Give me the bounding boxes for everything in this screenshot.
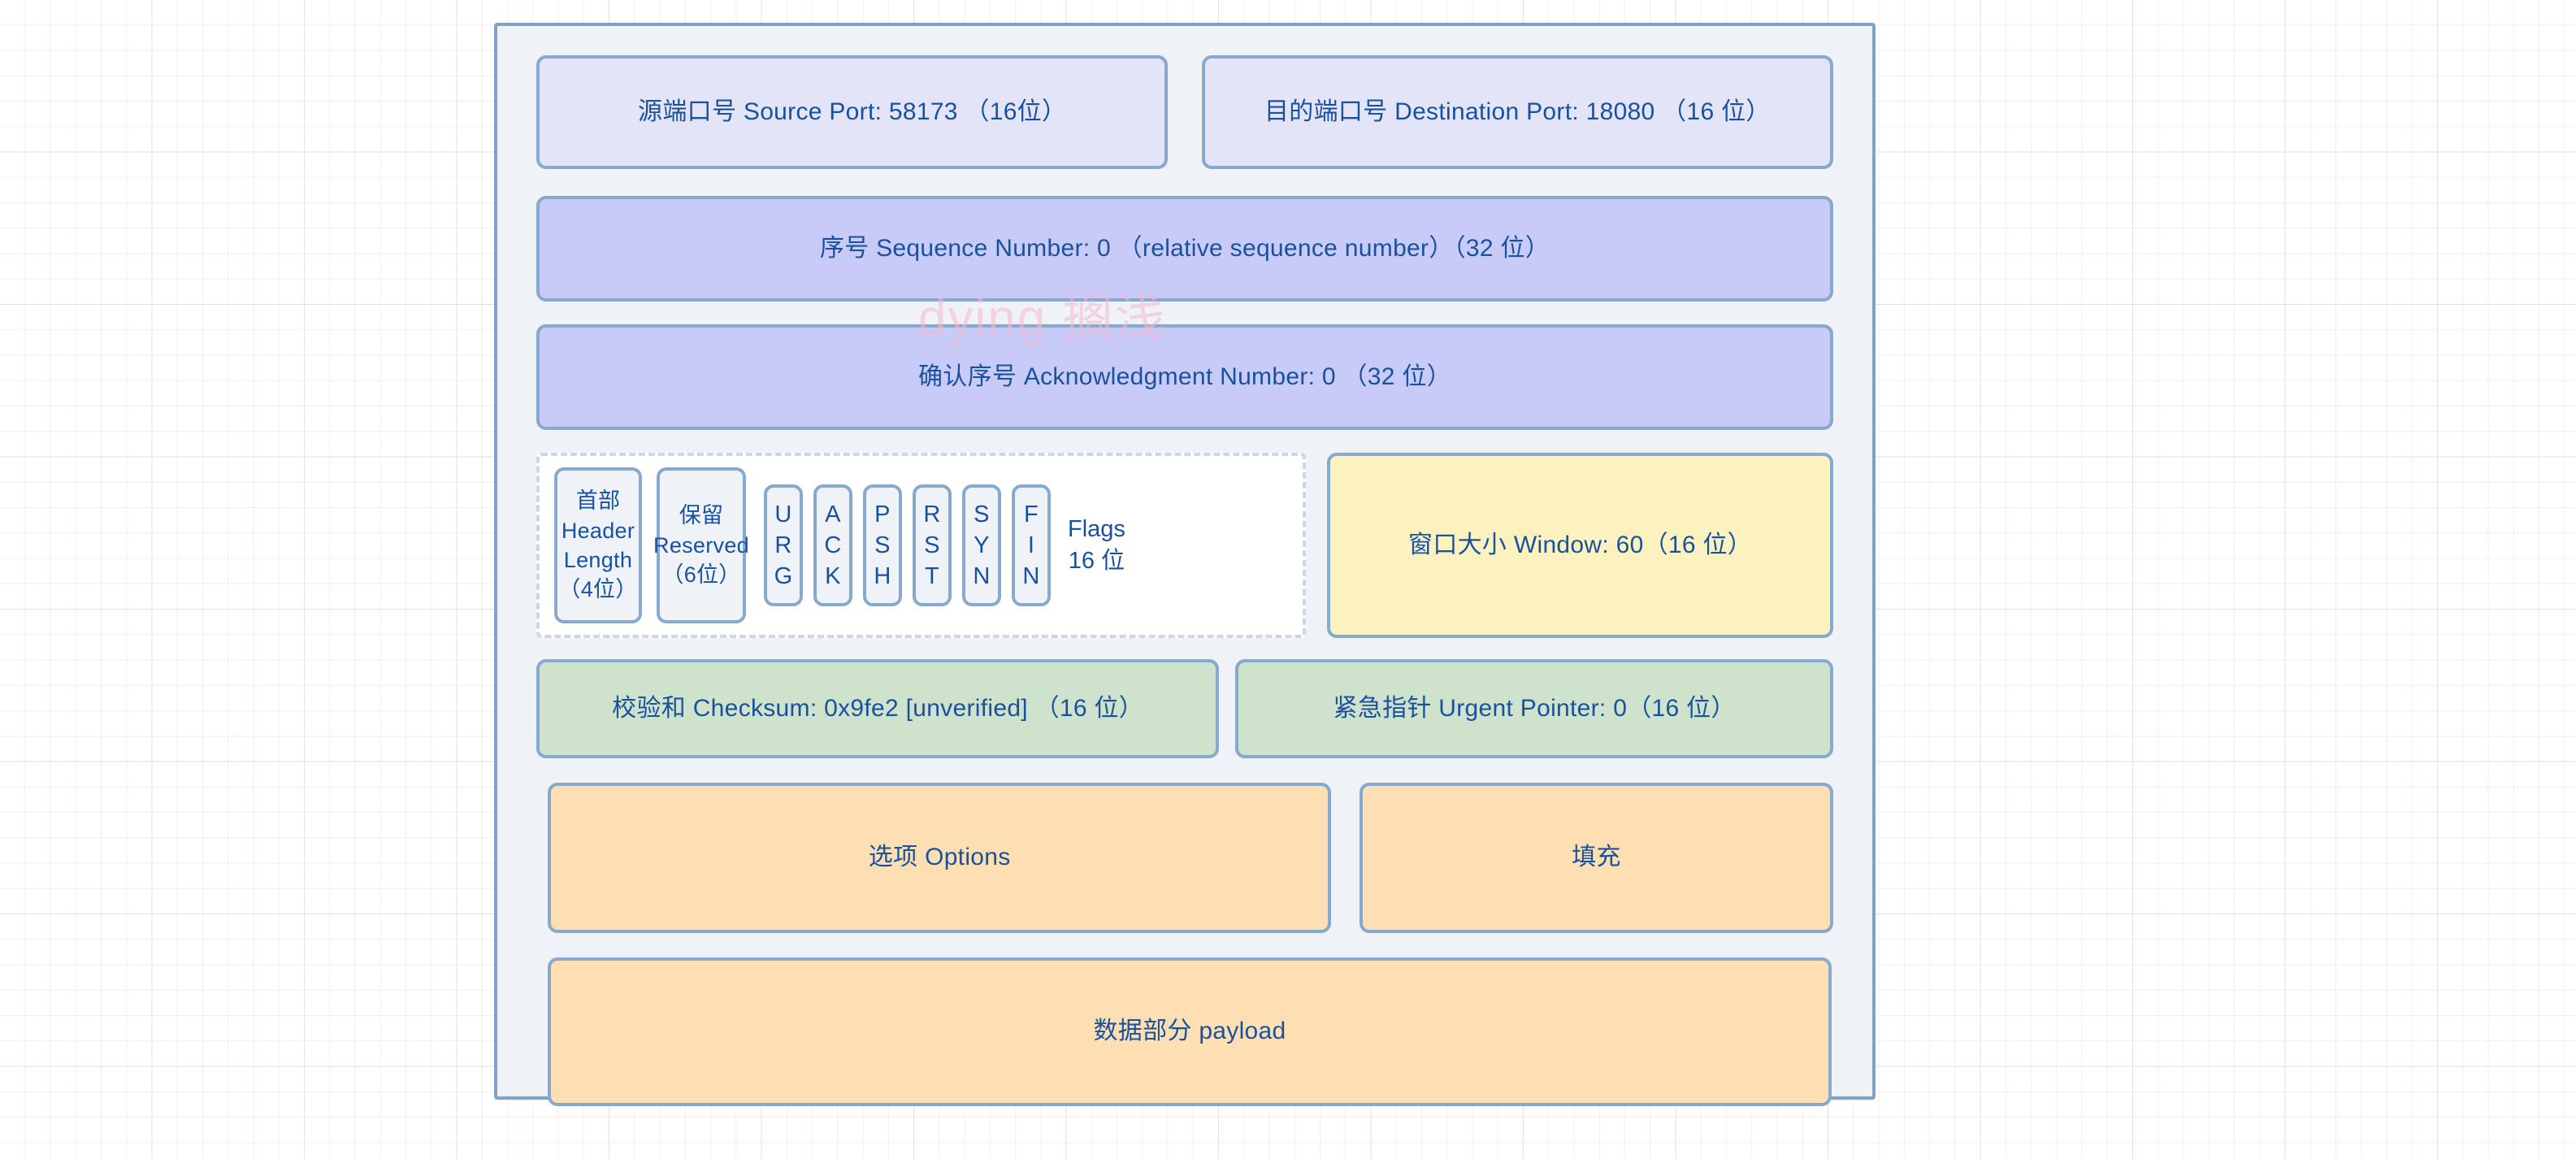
padding-field: 填充 xyxy=(1360,783,1833,933)
flags-group-container: 首部 Header Length （4位） 保留 Reserved （6位） U… xyxy=(536,453,1306,638)
row-gap xyxy=(1219,659,1235,758)
acknowledgment-number-row: 确认序号 Acknowledgment Number: 0 （32 位） xyxy=(536,324,1833,453)
flag-bit-rst: R S T xyxy=(913,484,952,606)
options-field: 选项 Options xyxy=(548,783,1331,933)
flag-bit-ack: A C K xyxy=(813,484,852,606)
ports-row: 源端口号 Source Port: 58173 （16位） 目的端口号 Dest… xyxy=(536,55,1833,169)
window-size-field: 窗口大小 Window: 60（16 位） xyxy=(1327,453,1833,638)
source-port-field: 源端口号 Source Port: 58173 （16位） xyxy=(536,55,1168,169)
reserved-field: 保留 Reserved （6位） xyxy=(657,467,746,623)
tcp-header-rows: 源端口号 Source Port: 58173 （16位） 目的端口号 Dest… xyxy=(536,55,1833,1106)
checksum-urgent-row: 校验和 Checksum: 0x9fe2 [unverified] （16 位）… xyxy=(536,659,1833,758)
tcp-header-diagram-frame: 源端口号 Source Port: 58173 （16位） 目的端口号 Dest… xyxy=(494,23,1876,1100)
flags-label: Flags 16 位 xyxy=(1068,514,1125,577)
options-padding-row: 选项 Options 填充 xyxy=(548,783,1833,933)
flag-bit-psh: P S H xyxy=(863,484,902,606)
payload-row: 数据部分 payload xyxy=(548,957,1833,1106)
sequence-number-row: 序号 Sequence Number: 0 （relative sequence… xyxy=(536,196,1833,324)
header-length-field: 首部 Header Length （4位） xyxy=(554,467,642,623)
flag-bit-urg: U R G xyxy=(764,484,803,606)
flag-bit-fin: F I N xyxy=(1012,484,1051,606)
flags-window-row: 首部 Header Length （4位） 保留 Reserved （6位） U… xyxy=(536,453,1833,638)
acknowledgment-number-field: 确认序号 Acknowledgment Number: 0 （32 位） xyxy=(536,324,1833,430)
checksum-field: 校验和 Checksum: 0x9fe2 [unverified] （16 位） xyxy=(536,659,1219,758)
payload-field: 数据部分 payload xyxy=(548,957,1832,1106)
flag-bit-syn: S Y N xyxy=(962,484,1001,606)
row-gap xyxy=(1168,55,1201,169)
destination-port-field: 目的端口号 Destination Port: 18080 （16 位） xyxy=(1202,55,1833,169)
sequence-number-field: 序号 Sequence Number: 0 （relative sequence… xyxy=(536,196,1833,302)
row-gap xyxy=(1331,783,1360,933)
urgent-pointer-field: 紧急指针 Urgent Pointer: 0（16 位） xyxy=(1235,659,1833,758)
row-gap xyxy=(1306,453,1327,638)
